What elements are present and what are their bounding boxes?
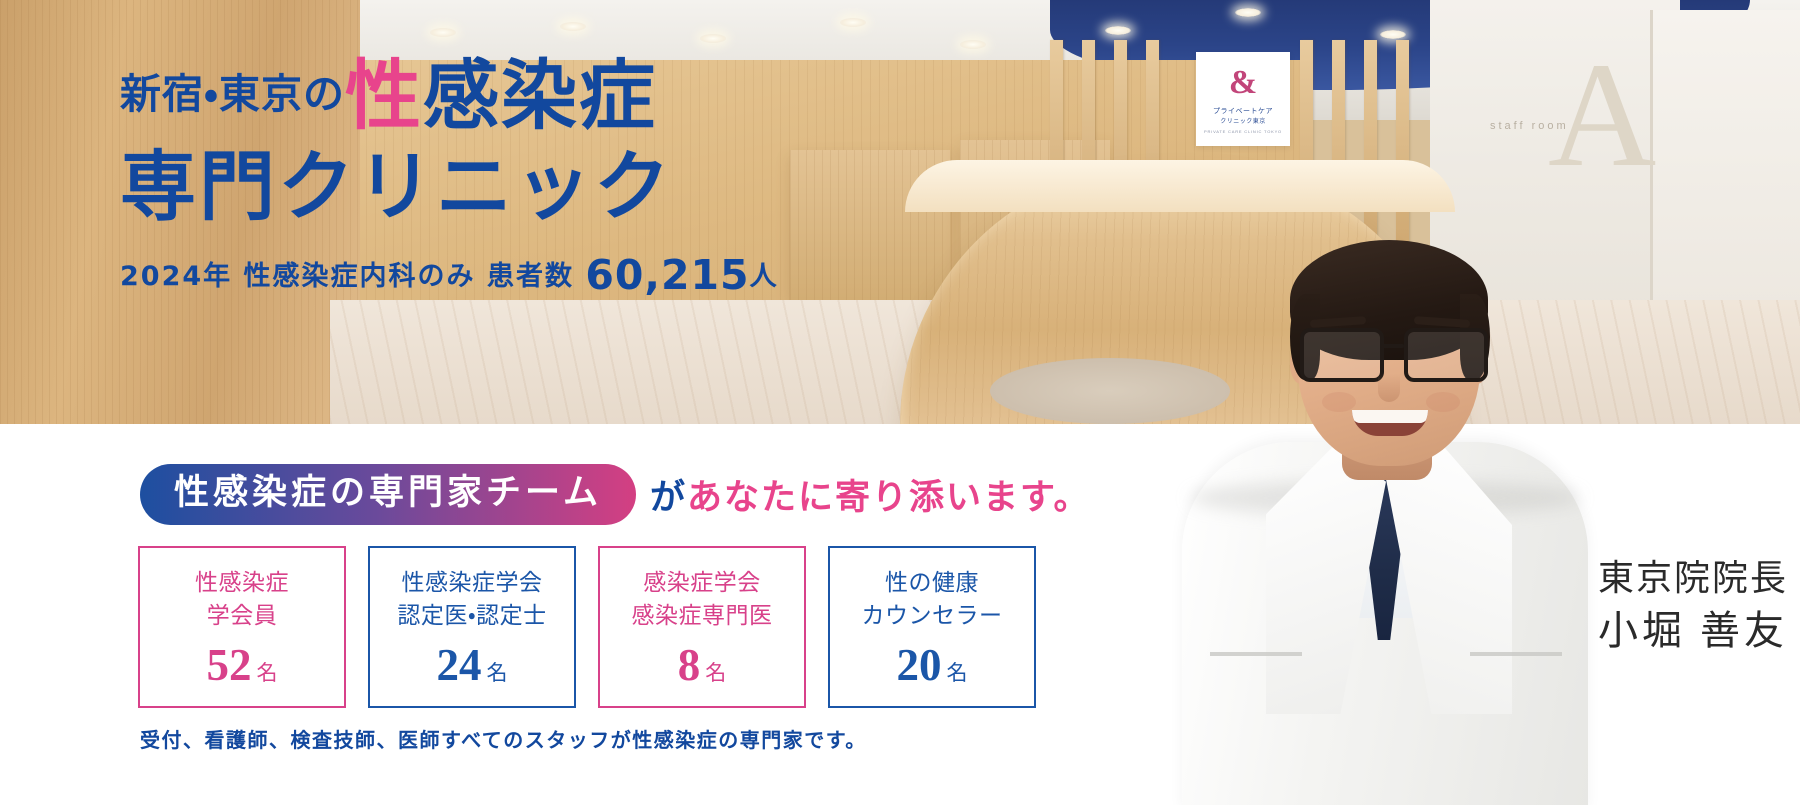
clinic-logo-plate: & プライベートケア クリニック東京 PRIVATE CARE CLINIC T… xyxy=(1196,52,1290,146)
staff-footnote: 受付、看護師、検査技師、医師すべてのスタッフが性感染症の専門家です。 xyxy=(140,724,867,753)
credential-box: 感染症学会 感染症専門医 8名 xyxy=(598,546,806,708)
expert-team-line: 性感染症の専門家チーム があなたに寄り添います。 xyxy=(140,464,1090,525)
credential-value: 24名 xyxy=(437,639,508,691)
ceiling-light xyxy=(1380,30,1406,39)
credential-number: 52 xyxy=(207,640,252,690)
hero-keyword-pink: 性 xyxy=(345,51,423,140)
wall-letter-a: A xyxy=(1548,40,1656,190)
credential-number: 20 xyxy=(897,640,942,690)
particle-ga: が xyxy=(650,478,687,518)
credential-value: 52名 xyxy=(207,639,278,691)
doctor-portrait xyxy=(1170,232,1600,805)
credential-box-group: 性感染症 学会員 52名 性感染症学会 認定医・認定士 24名 感染症学会 感染… xyxy=(138,546,1036,708)
ceiling-light xyxy=(560,22,586,31)
credential-number: 8 xyxy=(678,640,701,690)
doctor-nameplate: 東京院院長 小堀 善友 xyxy=(1598,552,1788,658)
doctor-cheek-left xyxy=(1322,392,1356,412)
ceiling-light xyxy=(960,40,986,49)
eyeglass-lens-left xyxy=(1300,328,1384,382)
hero-line-1: 新宿・東京の性感染症 xyxy=(120,58,880,134)
expert-team-suffix: があなたに寄り添います。 xyxy=(650,469,1091,520)
ceiling-light xyxy=(1235,8,1261,17)
hero-stat-unit: 人 xyxy=(750,261,779,292)
hero-keyword-blue: 感染症 xyxy=(423,51,657,140)
logo-line-1: プライベートケア xyxy=(1196,106,1290,116)
hero-patient-stat: 2024年 性感染症内科のみ 患者数 60,215人 xyxy=(120,251,880,299)
credential-label-line2: 認定医・認定士 xyxy=(397,600,546,633)
eyeglass-lens-right xyxy=(1404,328,1488,382)
doctor-teeth xyxy=(1352,410,1428,423)
coat-pocket-left xyxy=(1210,652,1302,656)
suffix-rest: あなたに寄り添います。 xyxy=(687,478,1091,518)
hero-prefix: 新宿・東京の xyxy=(120,70,345,118)
credential-box: 性感染症学会 認定医・認定士 24名 xyxy=(368,546,576,708)
doctor-title: 東京院院長 xyxy=(1598,552,1788,604)
hero-headline: 新宿・東京の性感染症 専門クリニック 2024年 性感染症内科のみ 患者数 60… xyxy=(120,58,880,299)
credential-value: 20名 xyxy=(897,639,968,691)
wood-slat xyxy=(1364,40,1377,250)
hero-stat-label: 2024年 性感染症内科のみ 患者数 xyxy=(120,261,574,292)
credential-unit: 名 xyxy=(947,661,968,685)
staff-room-label: staff room xyxy=(1490,120,1569,132)
credential-label-line1: 性感染症 xyxy=(195,567,289,600)
door xyxy=(1650,10,1800,340)
ceiling-light xyxy=(430,28,456,37)
logo-line-2: クリニック東京 xyxy=(1196,116,1290,125)
doctor-nose xyxy=(1378,374,1400,402)
credential-label-line2: 学会員 xyxy=(207,600,278,633)
expert-team-pill: 性感染症の専門家チーム xyxy=(140,464,636,525)
credential-box: 性の健康 カウンセラー 20名 xyxy=(828,546,1036,708)
hero-line-2: 専門クリニック xyxy=(120,144,880,229)
credential-label-line1: 感染症学会 xyxy=(643,567,761,600)
hero-stat-number: 60,215 xyxy=(585,251,749,299)
credential-unit: 名 xyxy=(705,661,726,685)
ceiling-light xyxy=(1105,26,1131,35)
ceiling-light xyxy=(700,34,726,43)
credential-value: 8名 xyxy=(678,639,727,691)
clinic-hero-banner: A staff room & プライベートケア クリニック東京 PRIVATE … xyxy=(0,0,1800,805)
logo-line-3: PRIVATE CARE CLINIC TOKYO xyxy=(1196,129,1290,134)
credential-label-line2: 感染症専門医 xyxy=(632,600,773,633)
ampersand-icon: & xyxy=(1196,52,1290,100)
eyeglass-bridge xyxy=(1380,344,1404,348)
credential-box: 性感染症 学会員 52名 xyxy=(138,546,346,708)
credential-label-line1: 性の健康 xyxy=(885,567,979,600)
credential-unit: 名 xyxy=(487,661,508,685)
ceiling-light xyxy=(840,18,866,27)
credential-unit: 名 xyxy=(257,661,278,685)
credential-number: 24 xyxy=(437,640,482,690)
eyeglasses-icon xyxy=(1298,328,1482,376)
wood-slat xyxy=(1396,40,1409,250)
doctor-name: 小堀 善友 xyxy=(1598,604,1788,658)
credential-label-line1: 性感染症学会 xyxy=(402,567,543,600)
credential-label-line2: カウンセラー xyxy=(862,600,1003,633)
reception-desk-top xyxy=(905,160,1455,212)
coat-pocket-right xyxy=(1470,652,1562,656)
doctor-cheek-right xyxy=(1426,392,1460,412)
